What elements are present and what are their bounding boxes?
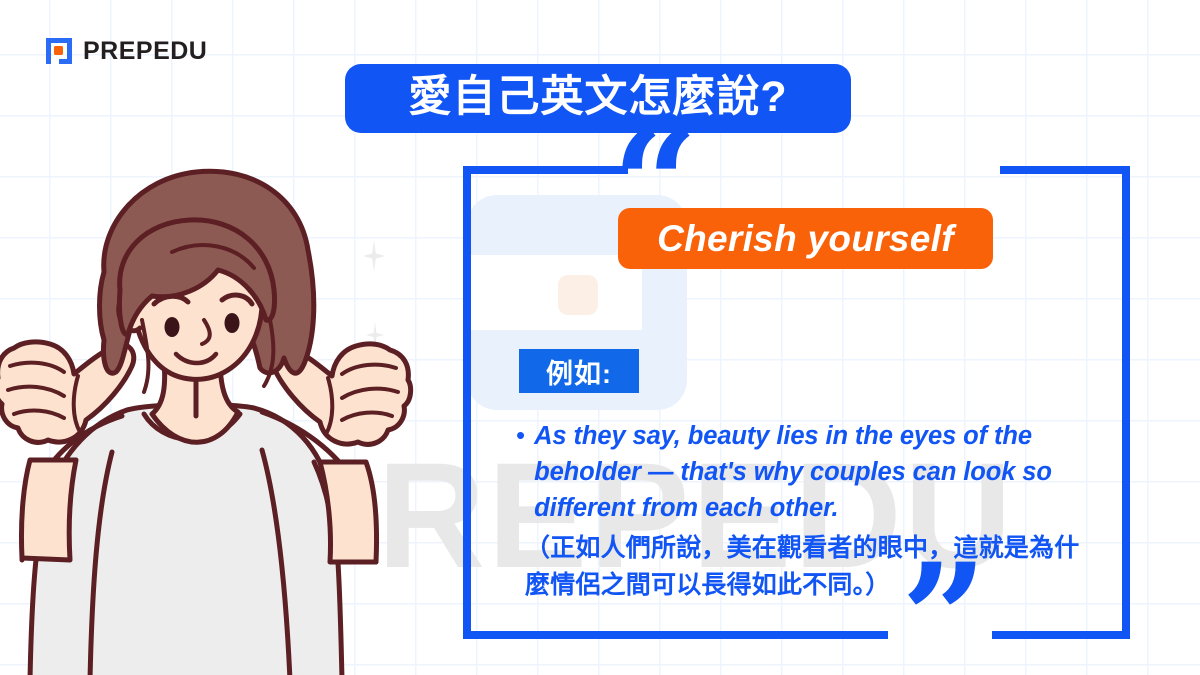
example-english-text: As they say, beauty lies in the eyes of … [534,418,1086,526]
prepedu-logo-mark-icon [44,36,74,66]
brand-logo: PREPEDU [44,36,207,66]
woman-illustration [0,160,522,675]
quote-frame-top-left [463,166,628,174]
example-label: 例如: [519,349,639,393]
quote-frame-bottom-right [992,631,1130,639]
quote-frame-bottom-left [463,631,888,639]
page-title: 愛自己英文怎麼說? [345,64,851,133]
phrase-highlight: Cherish yourself [618,208,993,269]
quote-frame-right [1122,166,1130,639]
page-title-text: 愛自己英文怎麼說? [408,76,787,119]
phrase-text: Cherish yourself [657,218,954,260]
quote-frame-left [463,166,471,639]
brand-logo-text: PREPEDU [83,37,207,66]
example-english-line: • As they say, beauty lies in the eyes o… [516,418,1086,526]
quote-frame-top-right [1000,166,1130,174]
decorative-chip [558,275,598,315]
example-chinese-text: （正如人們所說，美在觀看者的眼中，這就是為什麼情侶之間可以長得如此不同。） [516,530,1086,604]
poster-canvas: PREPEDU [0,0,1200,675]
bullet-icon: • [516,417,525,453]
example-label-text: 例如: [546,352,612,391]
example-content: • As they say, beauty lies in the eyes o… [516,418,1086,604]
